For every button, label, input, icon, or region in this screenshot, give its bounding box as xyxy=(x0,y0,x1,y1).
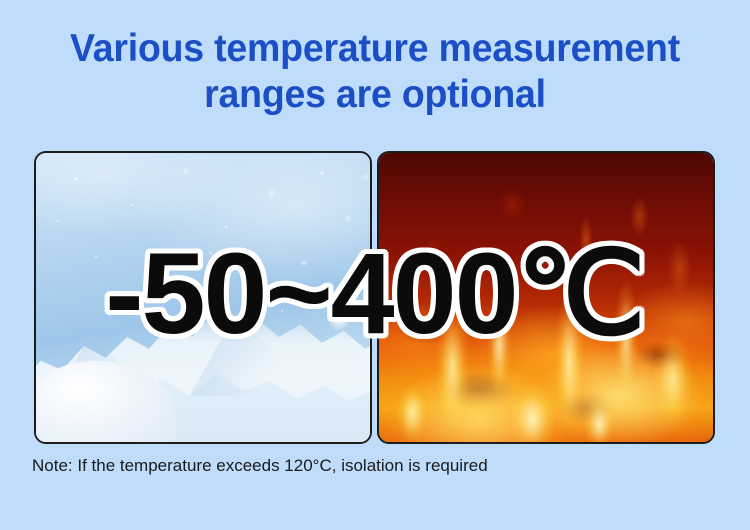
temperature-range-panels xyxy=(34,151,715,444)
note-text: Note: If the temperature exceeds 120°C, … xyxy=(32,455,488,477)
flame-tongues-icon xyxy=(379,153,713,442)
cold-temperature-panel xyxy=(34,151,372,444)
hot-temperature-panel xyxy=(377,151,715,444)
snowflakes-icon xyxy=(36,153,370,442)
page-title: Various temperature measurement ranges a… xyxy=(15,26,735,118)
